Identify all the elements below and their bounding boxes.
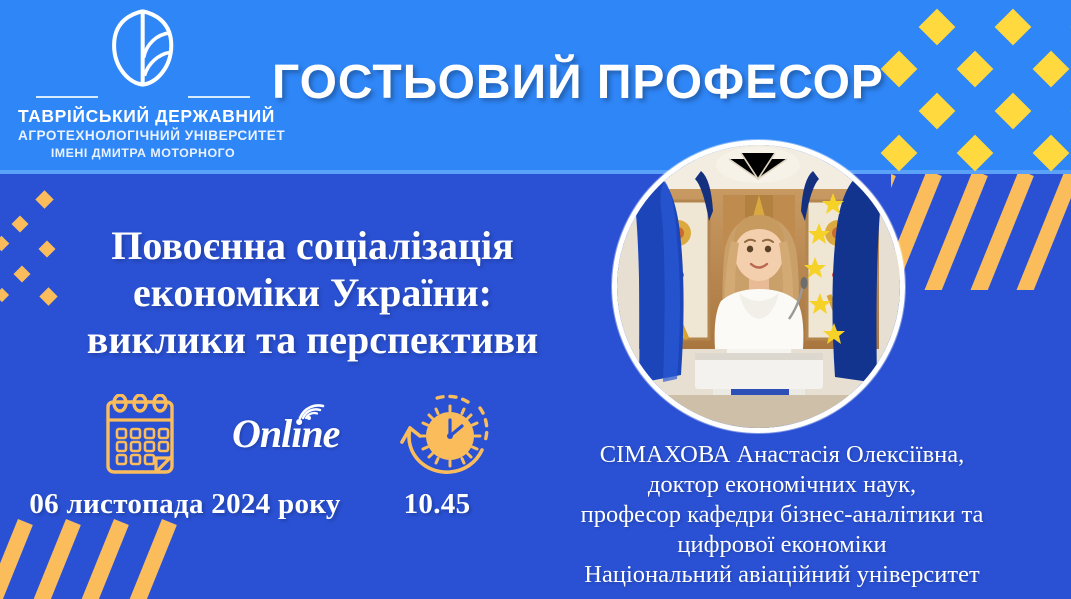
event-date: 06 листопада 2024 року — [0, 488, 370, 521]
decorative-diamond — [0, 288, 9, 302]
calendar-icon — [98, 394, 182, 487]
university-logo: ТАВРІЙСЬКИЙ ДЕРЖАВНИЙ АГРОТЕХНОЛОГІЧНИЙ … — [18, 6, 268, 162]
speaker-details: СІМАХОВА Анастасія Олексіївна, доктор ек… — [496, 440, 1068, 590]
decorative-diamond — [0, 236, 9, 252]
logo-line-2: АГРОТЕХНОЛОГІЧНИЙ УНІВЕРСИТЕТ — [18, 127, 268, 145]
online-badge: Online — [232, 410, 339, 457]
speaker-name: СІМАХОВА Анастасія Олексіївна, — [496, 440, 1068, 470]
event-info-row: Online — [0, 392, 520, 532]
logo-divider-rule — [22, 92, 264, 102]
leaf-tulip-icon — [18, 6, 268, 90]
decorative-stripes-right — [891, 172, 1071, 290]
header-band-edge — [0, 170, 1071, 174]
decorative-diamond — [35, 190, 53, 208]
banner-title: ГОСТЬОВИЙ ПРОФЕСОР — [272, 55, 884, 110]
poster-canvas: ТАВРІЙСЬКИЙ ДЕРЖАВНИЙ АГРОТЕХНОЛОГІЧНИЙ … — [0, 0, 1071, 599]
event-time: 10.45 — [372, 488, 502, 521]
speaker-position-1: професор кафедри бізнес-аналітики та — [496, 500, 1068, 530]
clock-icon — [392, 392, 500, 489]
speaker-affiliation: Національний авіаційний університет — [496, 560, 1068, 590]
topic-heading: Повоєнна соціалізація економіки України:… — [40, 222, 585, 363]
topic-line-2: економіки України: — [40, 269, 585, 316]
logo-line-3: ІМЕНІ ДМИТРА МОТОРНОГО — [18, 145, 268, 162]
speaker-degree: доктор економічних наук, — [496, 470, 1068, 500]
decorative-diamond — [12, 216, 29, 233]
speaker-photo — [612, 140, 905, 433]
decorative-diamond — [14, 266, 31, 283]
topic-line-1: Повоєнна соціалізація — [40, 222, 585, 269]
speaker-position-2: цифрової економіки — [496, 530, 1068, 560]
topic-line-3: виклики та перспективи — [40, 316, 585, 363]
logo-line-1: ТАВРІЙСЬКИЙ ДЕРЖАВНИЙ — [18, 106, 268, 127]
